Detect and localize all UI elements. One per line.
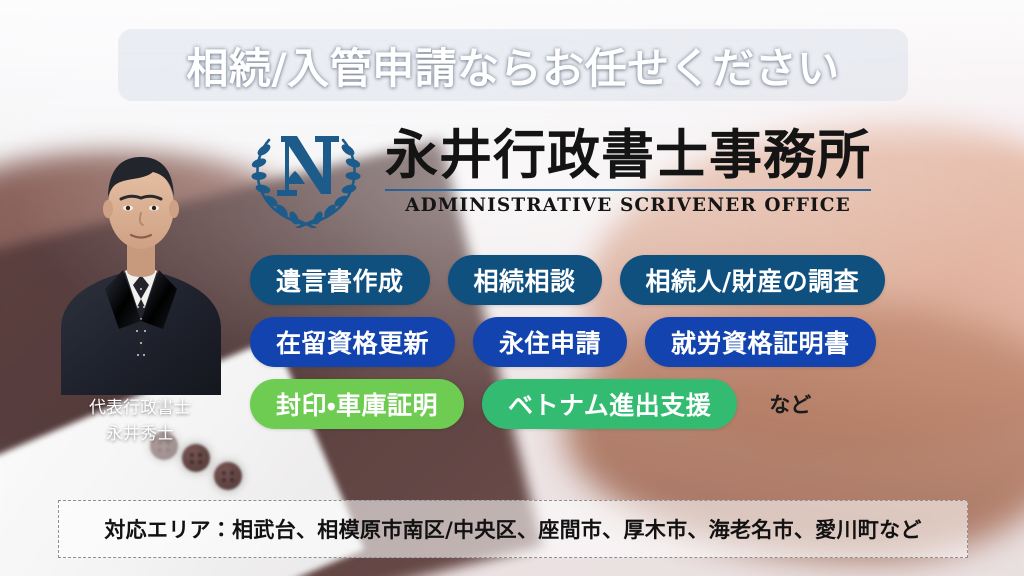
service-pill-inheritance-consult[interactable]: 相続相談 <box>448 255 602 305</box>
service-pill-heir-asset-investigation[interactable]: 相続人/財産の調査 <box>620 255 886 305</box>
page-title: 相続/入管申請ならお任せください <box>186 35 839 96</box>
brand-name: 永井行政書士事務所 <box>385 128 871 184</box>
portrait-caption: 代表行政書士 永井秀士 <box>38 396 242 447</box>
brand-subtitle: ADMINISTRATIVE SCRIVENER OFFICE <box>405 195 851 216</box>
service-suffix-label: など <box>769 389 811 419</box>
service-row-inheritance: 遺言書作成 相続相談 相続人/財産の調査 <box>250 255 1010 305</box>
portrait-role: 代表行政書士 <box>38 396 242 422</box>
service-pill-work-eligibility-certificate[interactable]: 就労資格証明書 <box>645 317 876 367</box>
service-area-text: 対応エリア：相武台、相模原市南区/中央区、座間市、厚木市、海老名市、愛川町など <box>104 514 921 544</box>
service-pill-will-drafting[interactable]: 遺言書作成 <box>250 255 430 305</box>
laurel-wreath-n-monogram-icon <box>243 116 369 228</box>
service-area-band: 対応エリア：相武台、相模原市南区/中央区、座間市、厚木市、海老名市、愛川町など <box>58 500 968 558</box>
service-pill-permanent-residency[interactable]: 永住申請 <box>473 317 627 367</box>
service-pill-seal-garage-certificate[interactable]: 封印・車庫証明 <box>250 379 464 429</box>
representative-portrait <box>55 123 227 395</box>
promotional-banner: 相続/入管申請ならお任せください <box>0 0 1024 576</box>
brand-lockup: 永井行政書士事務所 ADMINISTRATIVE SCRIVENER OFFIC… <box>243 112 903 232</box>
brand-text-block: 永井行政書士事務所 ADMINISTRATIVE SCRIVENER OFFIC… <box>385 128 871 216</box>
portrait-name: 永井秀士 <box>38 422 242 448</box>
brand-divider <box>385 189 871 191</box>
service-row-immigration: 在留資格更新 永住申請 就労資格証明書 <box>250 317 1010 367</box>
service-pill-residence-renewal[interactable]: 在留資格更新 <box>250 317 455 367</box>
service-pill-group: 遺言書作成 相続相談 相続人/財産の調査 在留資格更新 永住申請 就労資格証明書… <box>250 255 1010 441</box>
service-row-other: 封印・車庫証明 ベトナム進出支援 など <box>250 379 1010 429</box>
service-pill-vietnam-expansion-support[interactable]: ベトナム進出支援 <box>482 379 737 429</box>
headline-band: 相続/入管申請ならお任せください <box>118 29 908 101</box>
